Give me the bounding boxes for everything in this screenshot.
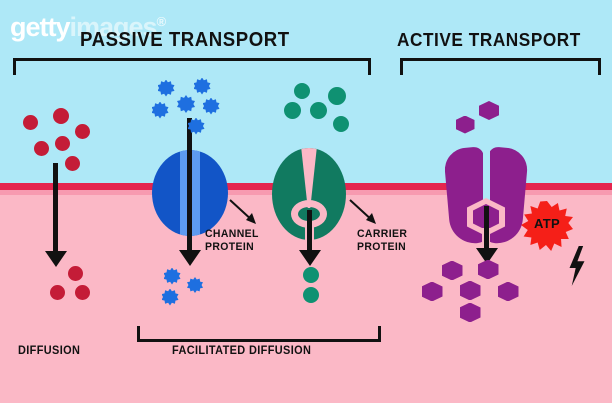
solute-red-intracellular (75, 285, 90, 300)
atp-label: ATP (521, 216, 573, 231)
leader-carrier-protein (348, 198, 382, 228)
solute-green-intracellular (303, 267, 319, 283)
arrow-carrier-transport (307, 210, 312, 252)
arrow-diffusion (53, 163, 58, 253)
solute-red-extracellular (55, 136, 70, 151)
solute-red-intracellular (50, 285, 65, 300)
diagram-canvas: gettyimages® PASSIVE TRANSPORT ACTIVE TR… (0, 0, 612, 403)
solute-green-extracellular (284, 102, 301, 119)
label-facilitated-diffusion: FACILITATED DIFFUSION (172, 345, 311, 358)
solute-red-extracellular (53, 108, 69, 124)
bracket-passive-transport (13, 58, 371, 75)
label-carrier-protein-line2: PROTEIN (357, 241, 406, 253)
watermark-getty: getty (10, 12, 70, 42)
heading-passive-transport: PASSIVE TRANSPORT (80, 29, 290, 52)
pump-protein-channel (483, 148, 490, 204)
solute-green-extracellular (310, 102, 327, 119)
label-channel-protein-line1: CHANNEL (205, 228, 259, 240)
solute-red-extracellular (65, 156, 80, 171)
label-carrier-protein-line1: CARRIER (357, 228, 407, 240)
bracket-facilitated-diffusion (137, 326, 381, 342)
label-carrier-protein: CARRIER PROTEIN (357, 228, 407, 254)
label-diffusion: DIFFUSION (18, 345, 80, 358)
bracket-active-transport (400, 58, 601, 75)
solute-red-extracellular (34, 141, 49, 156)
solute-green-extracellular (328, 87, 346, 105)
arrow-active-transport (484, 206, 489, 250)
label-channel-protein-line2: PROTEIN (205, 241, 254, 253)
heading-active-transport: ACTIVE TRANSPORT (397, 29, 581, 51)
solute-red-extracellular (23, 115, 38, 130)
leader-channel-protein (228, 198, 262, 228)
solute-red-intracellular (68, 266, 83, 281)
carrier-protein-channel (301, 148, 317, 208)
solute-red-extracellular (75, 124, 90, 139)
arrow-channel-transport (187, 118, 192, 252)
watermark-registered-icon: ® (157, 14, 166, 29)
solute-green-intracellular (303, 287, 319, 303)
solute-green-extracellular (333, 116, 349, 132)
solute-green-extracellular (294, 83, 310, 99)
label-channel-protein: CHANNEL PROTEIN (205, 228, 259, 254)
